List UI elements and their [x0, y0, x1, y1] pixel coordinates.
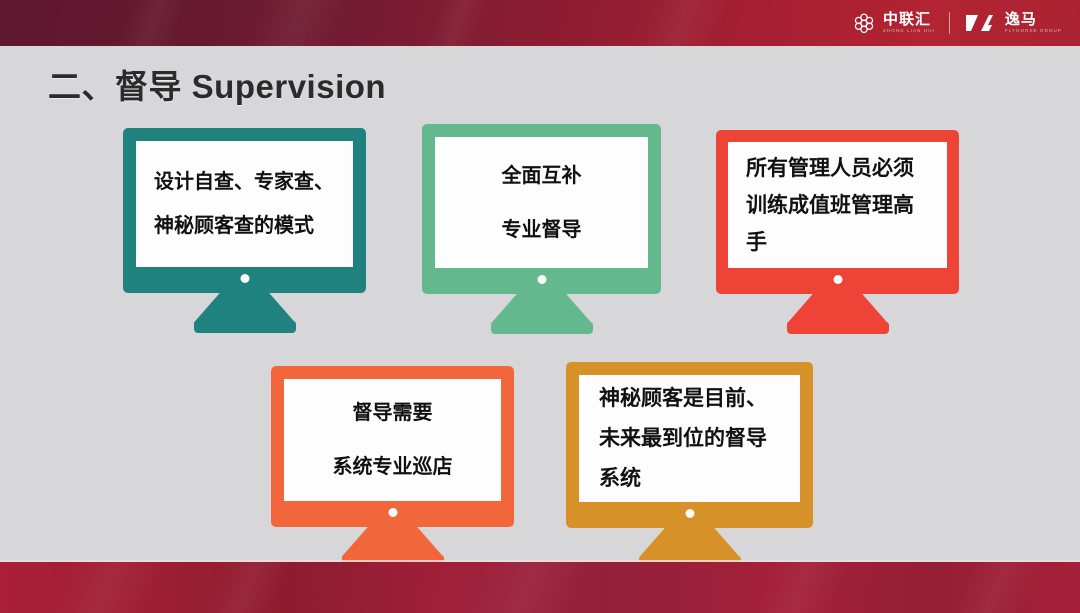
brand-zhonglianhui-subtitle: ZHONG LIAN HUI — [883, 29, 935, 34]
flower-logo-icon — [852, 11, 876, 35]
bottom-banner — [0, 562, 1080, 613]
monitor-1: 设计自查、专家查、神秘顾客查的模式 — [123, 128, 366, 335]
monitor-bezel: 所有管理人员必须训练成值班管理高手 — [716, 130, 959, 294]
monitor-text: 督导需要系统专业巡店 — [284, 386, 501, 494]
banner-sheen — [42, 562, 168, 613]
monitor-2: 全面互补专业督导 — [422, 124, 661, 336]
monitor-stand — [194, 291, 296, 323]
brand-lockup: 中联汇 ZHONG LIAN HUI 逸马 FLYHORSE GROUP — [852, 0, 1062, 46]
monitor-power-dot-icon — [685, 509, 694, 518]
monitor-screen: 设计自查、专家查、神秘顾客查的模式 — [136, 141, 353, 267]
monitor-text-line: 未来最到位的督导 — [599, 419, 790, 459]
monitor-3: 所有管理人员必须训练成值班管理高手 — [716, 130, 959, 336]
monitor-text-line: 督导需要 — [294, 386, 491, 440]
monitor-bezel: 神秘顾客是目前、未来最到位的督导系统 — [566, 362, 813, 528]
monitor-power-dot-icon — [537, 275, 546, 284]
monitor-text-line: 神秘顾客是目前、 — [599, 379, 790, 419]
ca-mark-icon — [964, 13, 998, 33]
brand-zhonglianhui-name: 中联汇 — [883, 12, 935, 27]
monitor-text-line: 手 — [746, 224, 937, 261]
brand-yima-text: 逸马 FLYHORSE GROUP — [1005, 12, 1062, 34]
monitor-stand — [342, 525, 444, 557]
monitor-screen: 全面互补专业督导 — [435, 137, 648, 268]
monitor-text: 设计自查、专家查、神秘顾客查的模式 — [136, 160, 353, 248]
banner-sheen — [192, 562, 298, 613]
banner-sheen — [742, 562, 858, 613]
monitor-screen: 神秘顾客是目前、未来最到位的督导系统 — [579, 375, 800, 502]
monitor-5: 神秘顾客是目前、未来最到位的督导系统 — [566, 362, 813, 570]
banner-sheen — [232, 0, 358, 46]
monitor-text-line: 专业督导 — [445, 203, 638, 257]
monitor-text-line: 系统专业巡店 — [294, 440, 491, 494]
banner-sheen — [942, 562, 1048, 613]
monitor-text: 全面互补专业督导 — [435, 149, 648, 257]
monitor-bezel: 督导需要系统专业巡店 — [271, 366, 514, 527]
monitor-screen: 督导需要系统专业巡店 — [284, 379, 501, 501]
banner-sheen — [452, 562, 598, 613]
banner-sheen — [412, 0, 498, 46]
monitor-stand — [787, 292, 889, 324]
brand-yima-subtitle: FLYHORSE GROUP — [1005, 29, 1062, 34]
slide-title: 二、督导 Supervision — [48, 60, 386, 108]
monitor-screen: 所有管理人员必须训练成值班管理高手 — [728, 142, 947, 268]
monitor-4: 督导需要系统专业巡店 — [271, 366, 514, 569]
monitor-text: 所有管理人员必须训练成值班管理高手 — [728, 150, 947, 261]
monitor-power-dot-icon — [240, 274, 249, 283]
monitor-stand — [491, 292, 593, 324]
monitor-power-dot-icon — [833, 275, 842, 284]
brand-divider — [949, 12, 950, 34]
monitor-text-line: 训练成值班管理高 — [746, 187, 937, 224]
monitor-text: 神秘顾客是目前、未来最到位的督导系统 — [579, 379, 800, 499]
monitor-bezel: 全面互补专业督导 — [422, 124, 661, 294]
slide-canvas: 中联汇 ZHONG LIAN HUI 逸马 FLYHORSE GROUP — [0, 0, 1080, 613]
monitor-text-line: 全面互补 — [445, 149, 638, 203]
banner-sheen — [102, 0, 198, 46]
banner-sheen — [622, 0, 738, 46]
monitor-text-line: 系统 — [599, 459, 790, 499]
monitor-text-line: 所有管理人员必须 — [746, 150, 937, 187]
monitor-bezel: 设计自查、专家查、神秘顾客查的模式 — [123, 128, 366, 293]
brand-zhonglianhui: 中联汇 ZHONG LIAN HUI — [852, 11, 935, 35]
top-banner: 中联汇 ZHONG LIAN HUI 逸马 FLYHORSE GROUP — [0, 0, 1080, 46]
monitor-power-dot-icon — [388, 508, 397, 517]
brand-zhonglianhui-text: 中联汇 ZHONG LIAN HUI — [883, 12, 935, 34]
brand-yima-name: 逸马 — [1005, 12, 1062, 27]
monitor-text-line: 神秘顾客查的模式 — [154, 204, 343, 248]
monitor-stand — [639, 526, 741, 558]
brand-yima: 逸马 FLYHORSE GROUP — [964, 12, 1062, 34]
monitor-text-line: 设计自查、专家查、 — [154, 160, 343, 204]
